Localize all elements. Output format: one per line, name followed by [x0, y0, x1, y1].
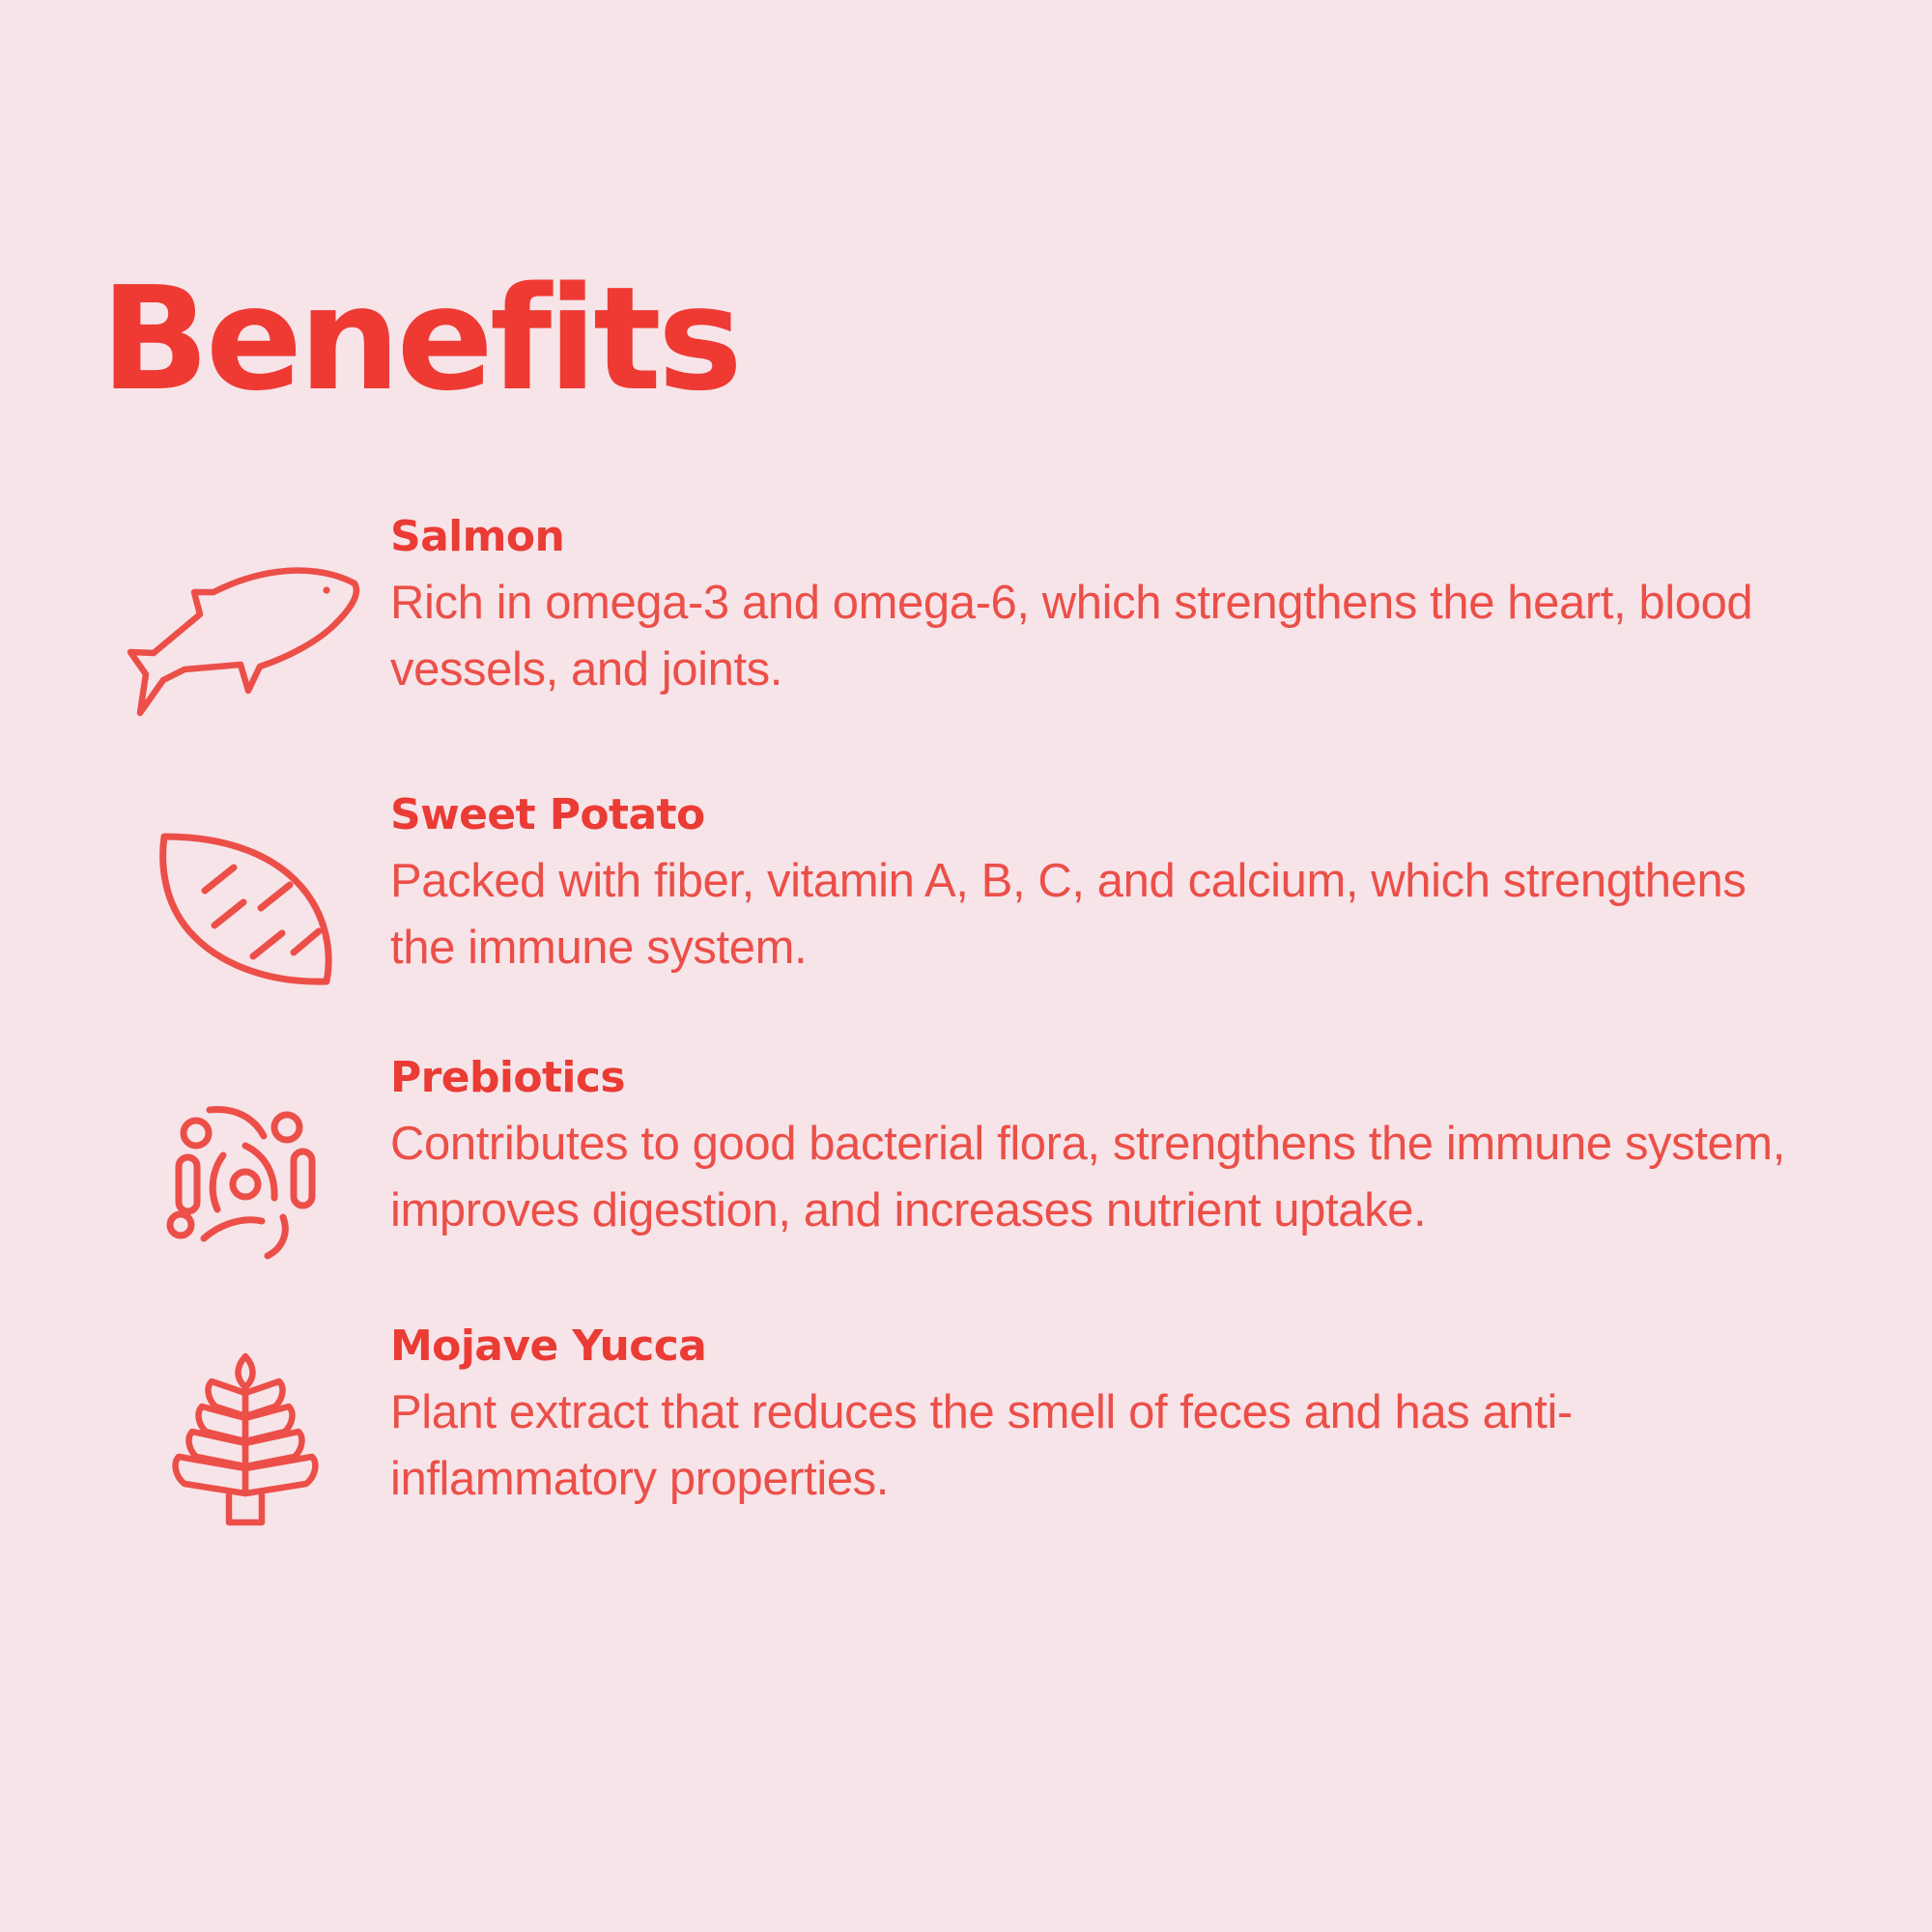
benefit-title: Sweet Potato [390, 790, 1801, 840]
benefit-title: Salmon [390, 512, 1801, 562]
benefit-title: Prebiotics [390, 1053, 1801, 1103]
benefit-item-mojave-yucca: Mojave Yucca Plant extract that reduces … [0, 1321, 1932, 1536]
benefit-item-sweet-potato: Sweet Potato Packed with fiber, vitamin … [0, 790, 1932, 999]
benefit-text-salmon: Salmon Rich in omega-3 and omega-6, whic… [390, 512, 1839, 704]
benefit-description: Plant extract that reduces the smell of … [390, 1379, 1801, 1514]
benefit-text-sweet-potato: Sweet Potato Packed with fiber, vitamin … [390, 790, 1839, 982]
benefit-description: Contributes to good bacterial flora, str… [390, 1111, 1801, 1245]
fish-icon [100, 512, 390, 736]
benefits-infographic: Benefits Salmon Rich in omega-3 and omeg… [0, 0, 1932, 1932]
benefit-description: Rich in omega-3 and omega-6, which stren… [390, 570, 1801, 704]
benefit-text-prebiotics: Prebiotics Contributes to good bacterial… [390, 1053, 1839, 1245]
page-title: Benefits [100, 268, 739, 411]
benefit-item-salmon: Salmon Rich in omega-3 and omega-6, whic… [0, 512, 1932, 736]
sweet-potato-icon [100, 790, 390, 999]
benefit-item-prebiotics: Prebiotics Contributes to good bacterial… [0, 1053, 1932, 1269]
benefit-description: Packed with fiber, vitamin A, B, C, and … [390, 848, 1801, 982]
benefit-text-mojave-yucca: Mojave Yucca Plant extract that reduces … [390, 1321, 1839, 1514]
bacteria-icon [100, 1053, 390, 1269]
benefit-title: Mojave Yucca [390, 1321, 1801, 1372]
yucca-plant-icon [100, 1321, 390, 1536]
benefits-list: Salmon Rich in omega-3 and omega-6, whic… [0, 512, 1932, 1536]
